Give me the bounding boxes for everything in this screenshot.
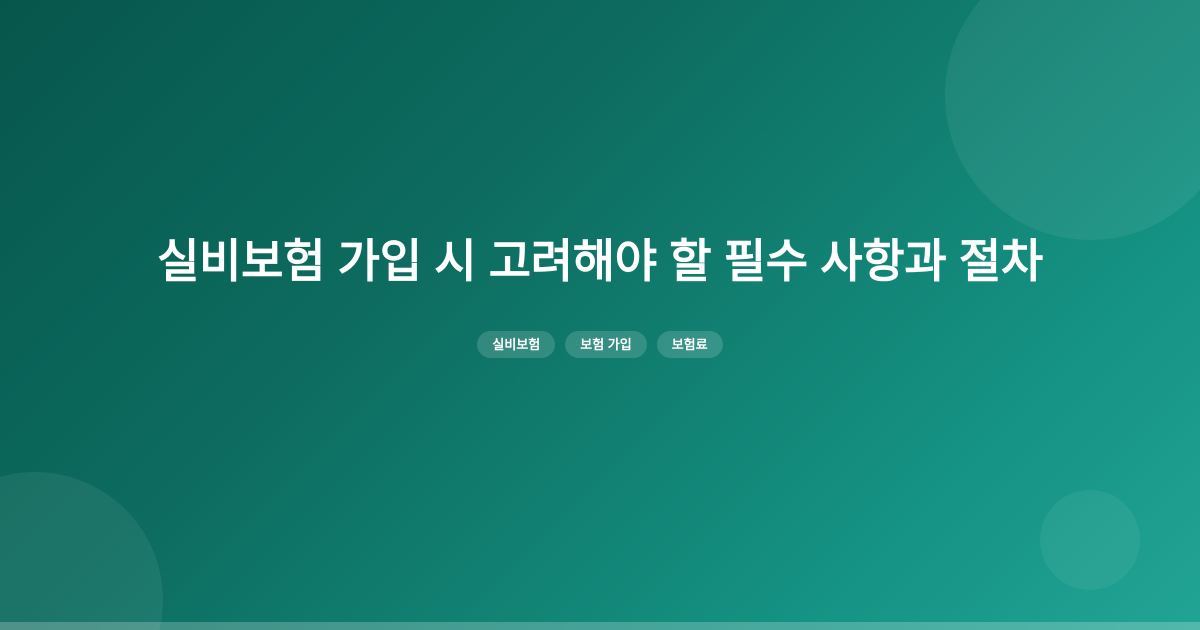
tag-pill-3[interactable]: 보험료 <box>657 331 723 358</box>
page-title: 실비보험 가입 시 고려해야 할 필수 사항과 절차 <box>157 232 1043 292</box>
card-content: 실비보험 가입 시 고려해야 할 필수 사항과 절차 실비보험 보험 가입 보험… <box>0 0 1200 630</box>
tag-pill-2[interactable]: 보험 가입 <box>565 331 646 358</box>
bottom-accent-strip <box>0 622 1200 630</box>
tag-list: 실비보험 보험 가입 보험료 <box>477 331 722 358</box>
share-card: 실비보험 가입 시 고려해야 할 필수 사항과 절차 실비보험 보험 가입 보험… <box>0 0 1200 630</box>
tag-pill-1[interactable]: 실비보험 <box>477 331 555 358</box>
